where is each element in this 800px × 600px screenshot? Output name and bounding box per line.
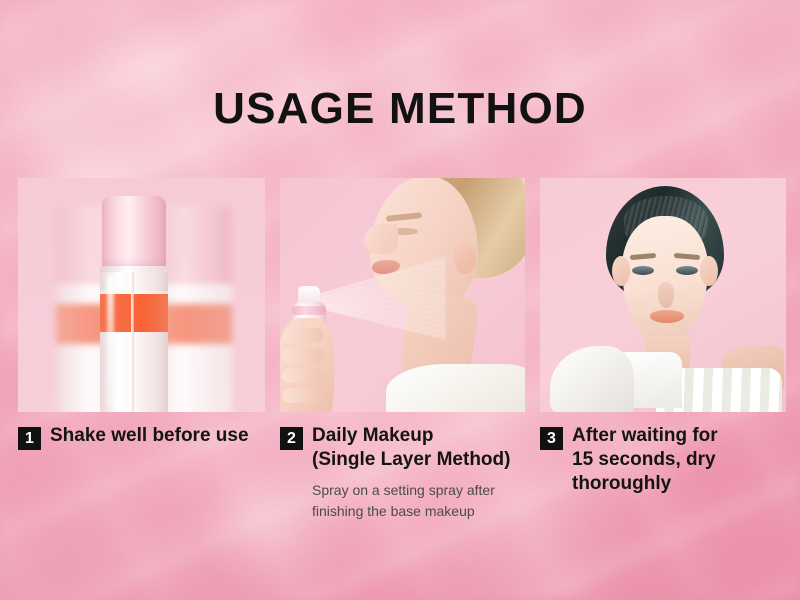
blouse-bow — [550, 346, 634, 412]
model-hand — [280, 318, 334, 412]
model-nose — [658, 282, 674, 308]
image-panel-row — [18, 178, 786, 412]
model-ear-left — [612, 256, 630, 286]
bottle-cap — [102, 196, 166, 268]
step-1: 1 Shake well before use — [18, 424, 265, 522]
step-2-text: Daily Makeup (Single Layer Method) Spray… — [312, 424, 510, 522]
finger — [282, 348, 324, 363]
model-eye-right — [676, 266, 698, 275]
steps-row: 1 Shake well before use 2 Daily Makeup (… — [18, 424, 788, 522]
model-face — [622, 216, 708, 344]
model-white-blouse — [546, 342, 782, 412]
step-1-text: Shake well before use — [50, 424, 249, 448]
spray-collar-ring — [292, 306, 326, 315]
model-ear-right — [700, 256, 718, 286]
step-2-number-badge: 2 — [280, 427, 303, 450]
model-lips — [650, 310, 684, 323]
step-1-title: Shake well before use — [50, 424, 249, 448]
finger — [282, 328, 324, 343]
step-2: 2 Daily Makeup (Single Layer Method) Spr… — [280, 424, 525, 522]
panel-spraying-face — [280, 178, 525, 412]
bottle-gloss-highlight — [107, 276, 114, 406]
finger — [282, 368, 324, 383]
step-2-subtitle: Spray on a setting spray after finishing… — [312, 480, 510, 522]
step-1-number-badge: 1 — [18, 427, 41, 450]
step-3-number-badge: 3 — [540, 427, 563, 450]
step-3-title: After waiting for 15 seconds, dry thorou… — [572, 424, 718, 496]
panel-product-bottles — [18, 178, 265, 412]
model-nose — [364, 224, 398, 254]
finger — [282, 388, 324, 403]
model-ear — [454, 242, 476, 274]
bottle-seam — [131, 272, 134, 412]
step-2-title: Daily Makeup (Single Layer Method) — [312, 424, 510, 472]
panel-finished-look — [540, 178, 786, 412]
step-3: 3 After waiting for 15 seconds, dry thor… — [540, 424, 786, 522]
page-title: USAGE METHOD — [0, 86, 800, 132]
bottle-foreground — [100, 196, 168, 412]
model-eye-left — [632, 266, 654, 275]
step-3-text: After waiting for 15 seconds, dry thorou… — [572, 424, 718, 496]
usage-method-poster: USAGE METHOD — [0, 0, 800, 600]
model-white-top — [386, 364, 525, 412]
